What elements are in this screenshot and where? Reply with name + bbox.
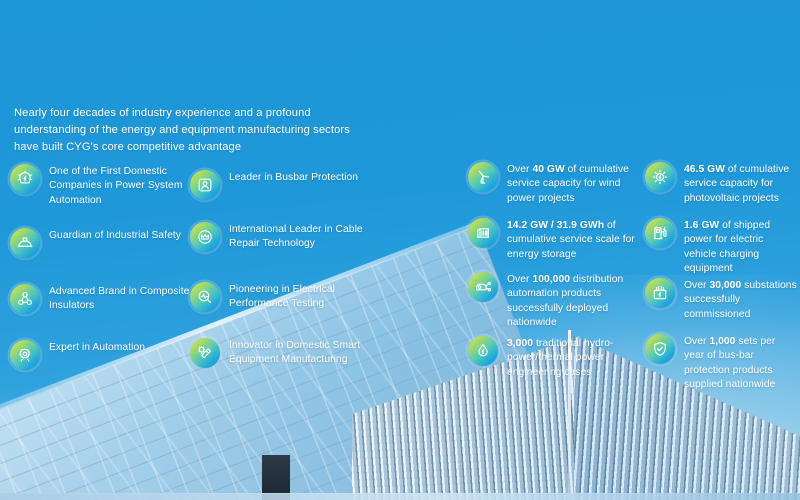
infographic-content: Nearly four decades of industry experien… bbox=[0, 0, 800, 500]
list-item-label: Over 100,000 distribution automation pro… bbox=[507, 272, 648, 331]
list-item-label: One of the First Domestic Companies in P… bbox=[49, 164, 190, 208]
list-item-label: International Leader in Cable Repair Tec… bbox=[229, 222, 375, 252]
list-item[interactable]: Over 1,000 sets per year of bus-bar prot… bbox=[645, 334, 797, 393]
wind-turbine-icon bbox=[468, 162, 498, 192]
list-item[interactable]: Innovator in Domestic Smart Equipment Ma… bbox=[190, 338, 375, 368]
list-item[interactable]: Over 100,000 distribution automation pro… bbox=[468, 272, 648, 331]
list-item-label: 46.5 GW of cumulative service capacity f… bbox=[684, 162, 797, 206]
waveform-magnifier-icon bbox=[190, 282, 220, 312]
list-item-label: 3,000 traditional hydro-power/thermal po… bbox=[507, 336, 648, 380]
list-item-label: Leader in Busbar Protection bbox=[229, 170, 358, 185]
ev-charging-icon bbox=[645, 218, 675, 248]
list-item[interactable]: Expert in Automation bbox=[10, 340, 145, 370]
list-item[interactable]: Over 40 GW of cumulative service capacit… bbox=[468, 162, 648, 206]
list-item-label: 1.6 GW of shipped power for electric veh… bbox=[684, 218, 797, 277]
composite-insulator-icon bbox=[10, 284, 40, 314]
power-system-automation-icon bbox=[10, 164, 40, 194]
list-item[interactable]: Over 30,000 substations successfully com… bbox=[645, 278, 797, 322]
list-item[interactable]: Advanced Brand in Composite Insulators bbox=[10, 284, 190, 314]
cable-repair-crown-icon bbox=[190, 222, 220, 252]
gear-automation-icon bbox=[10, 340, 40, 370]
list-item-label: Expert in Automation bbox=[49, 340, 145, 355]
list-item[interactable]: Leader in Busbar Protection bbox=[190, 170, 358, 200]
list-item[interactable]: 3,000 traditional hydro-power/thermal po… bbox=[468, 336, 648, 380]
list-item-label: Advanced Brand in Composite Insulators bbox=[49, 284, 190, 314]
intro-paragraph: Nearly four decades of industry experien… bbox=[14, 105, 364, 156]
smart-equipment-icon bbox=[190, 338, 220, 368]
list-item-label: Pioneering in Electrical Performance Tes… bbox=[229, 282, 375, 312]
list-item-label: Over 30,000 substations successfully com… bbox=[684, 278, 797, 322]
distribution-automation-icon bbox=[468, 272, 498, 302]
list-item[interactable]: International Leader in Cable Repair Tec… bbox=[190, 222, 375, 252]
list-item-label: Innovator in Domestic Smart Equipment Ma… bbox=[229, 338, 375, 368]
energy-storage-icon bbox=[468, 218, 498, 248]
busbar-protection-icon bbox=[190, 170, 220, 200]
list-item-label: Over 40 GW of cumulative service capacit… bbox=[507, 162, 648, 206]
list-item[interactable]: 46.5 GW of cumulative service capacity f… bbox=[645, 162, 797, 206]
shield-check-icon bbox=[645, 334, 675, 364]
list-item[interactable]: 14.2 GW / 31.9 GWh of cumulative service… bbox=[468, 218, 648, 262]
list-item[interactable]: One of the First Domestic Companies in P… bbox=[10, 164, 190, 208]
hydro-power-icon bbox=[468, 336, 498, 366]
list-item-label: Over 1,000 sets per year of bus-bar prot… bbox=[684, 334, 797, 393]
list-item-label: Guardian of Industrial Safety bbox=[49, 228, 181, 243]
list-item-label: 14.2 GW / 31.9 GWh of cumulative service… bbox=[507, 218, 648, 262]
solar-photovoltaic-icon bbox=[645, 162, 675, 192]
list-item[interactable]: 1.6 GW of shipped power for electric veh… bbox=[645, 218, 797, 277]
list-item[interactable]: Pioneering in Electrical Performance Tes… bbox=[190, 282, 375, 312]
substation-icon bbox=[645, 278, 675, 308]
hard-hat-icon bbox=[10, 228, 40, 258]
list-item[interactable]: Guardian of Industrial Safety bbox=[10, 228, 181, 258]
